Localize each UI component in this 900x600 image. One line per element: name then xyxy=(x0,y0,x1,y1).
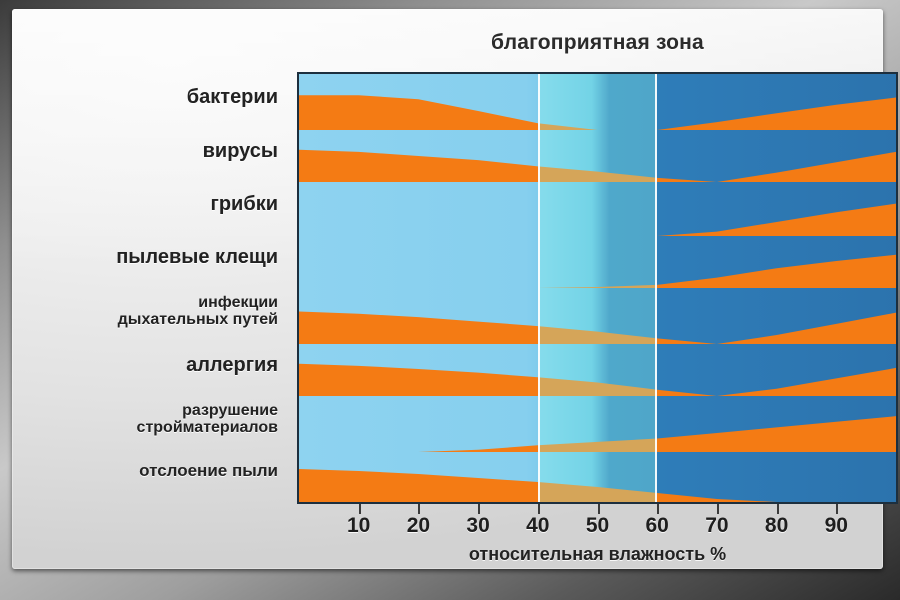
axis-tick-label: 10 xyxy=(337,514,381,538)
axis-tick-label: 90 xyxy=(814,514,858,538)
risk-band xyxy=(299,288,896,344)
row-label-7: разрушение стройматериалов xyxy=(137,402,278,436)
risk-row xyxy=(299,344,896,398)
x-axis-title: относительная влажность % xyxy=(297,544,898,565)
risk-row xyxy=(299,396,896,454)
risk-band xyxy=(299,452,896,502)
axis-tick-label: 20 xyxy=(396,514,440,538)
x-axis: относительная влажность % 10203040506070… xyxy=(297,504,898,564)
risk-band xyxy=(299,130,896,182)
axis-tick xyxy=(418,504,420,514)
row-label-column: бактериивирусыгрибкипылевые клещиинфекци… xyxy=(20,72,290,504)
row-label-3: грибки xyxy=(211,194,279,215)
screenshot-frame: благоприятная зона бактериивирусыгрибкип… xyxy=(0,0,900,600)
axis-tick-label: 80 xyxy=(755,514,799,538)
row-label-6: аллергия xyxy=(186,355,278,376)
risk-row xyxy=(299,236,896,290)
risk-band xyxy=(299,236,896,288)
risk-row xyxy=(299,452,896,502)
row-label-2: вирусы xyxy=(203,141,278,162)
axis-tick-label: 70 xyxy=(695,514,739,538)
risk-row xyxy=(299,288,896,346)
axis-tick xyxy=(657,504,659,514)
plot-area: ЛЕСОБИРЖА строительство и отделка дерево… xyxy=(297,72,898,504)
risk-band xyxy=(299,74,896,130)
axis-tick xyxy=(717,504,719,514)
axis-tick xyxy=(598,504,600,514)
risk-band xyxy=(299,344,896,396)
row-label-5: инфекции дыхательных путей xyxy=(118,294,278,328)
axis-tick-label: 40 xyxy=(516,514,560,538)
axis-tick xyxy=(538,504,540,514)
risk-row xyxy=(299,130,896,184)
risk-row xyxy=(299,182,896,238)
risk-rows xyxy=(299,74,896,502)
axis-tick-label: 50 xyxy=(576,514,620,538)
axis-tick xyxy=(359,504,361,514)
axis-tick-label: 30 xyxy=(456,514,500,538)
chart-title: благоприятная зона xyxy=(297,31,898,55)
row-label-8: отслоение пыли xyxy=(139,462,278,480)
risk-band xyxy=(299,182,896,236)
row-label-4: пылевые клещи xyxy=(116,247,278,268)
risk-band xyxy=(299,396,896,452)
axis-tick xyxy=(836,504,838,514)
chart-card: благоприятная зона бактериивирусыгрибкип… xyxy=(12,9,883,569)
risk-row xyxy=(299,74,896,132)
axis-tick xyxy=(478,504,480,514)
row-label-1: бактерии xyxy=(187,87,278,108)
axis-tick xyxy=(777,504,779,514)
axis-tick-label: 60 xyxy=(635,514,679,538)
